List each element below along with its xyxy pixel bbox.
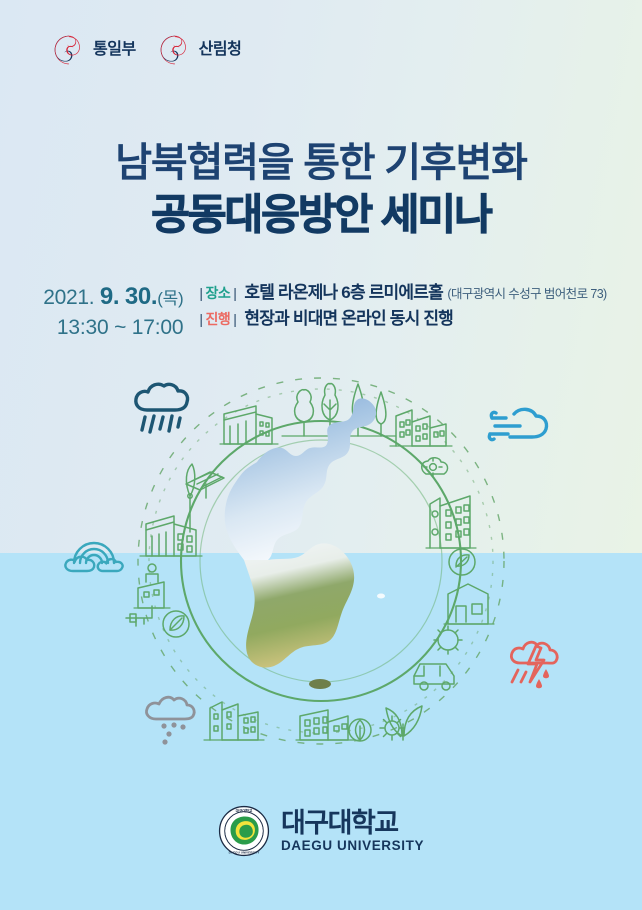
jeju-island-shape [309, 679, 331, 689]
event-datetime: 2021. 9. 30.(목) 13:30 ~ 17:00 [35, 281, 183, 341]
place-address: (대구광역시 수성구 범어천로 73) [447, 287, 606, 301]
tag-bar-right: | [233, 285, 236, 302]
government-logos: 통일부 산림청 [52, 33, 241, 67]
university-name-korean: 대구대학교 [281, 809, 424, 837]
taegeuk-icon [158, 33, 192, 67]
logo-korea-forest-service: 산림청 [158, 33, 242, 67]
event-place-row: | 장소 | 호텔 라온제나 6층 르미에르홀 (대구광역시 수성구 범어천로 … [199, 283, 606, 303]
thunderstorm-icon [506, 638, 562, 692]
university-footer: 대구대학교 DAEGU UNIVERSITY 대구대학교 DAEGU UNIVE… [0, 805, 642, 857]
wind-cloud-icon [486, 405, 550, 445]
event-info: 2021. 9. 30.(목) 13:30 ~ 17:00 | 장소 | 호텔 … [0, 281, 642, 341]
date-day: 30. [125, 283, 157, 310]
university-name: 대구대학교 DAEGU UNIVERSITY [281, 809, 424, 853]
title-line-1: 남북협력을 통한 기후변화 [0, 140, 642, 187]
tag-bar-right: | [233, 311, 236, 328]
logo-label-unification: 통일부 [93, 42, 136, 58]
event-details: | 장소 | 호텔 라온제나 6층 르미에르홀 (대구광역시 수성구 범어천로 … [199, 281, 606, 330]
daegu-university-emblem-icon: 대구대학교 DAEGU UNIVERSITY [218, 805, 270, 857]
event-time: 13:30 ~ 17:00 [35, 314, 183, 341]
date-year: 2021. [43, 286, 94, 309]
title-line-2: 공동대응방안 세미나 [0, 189, 642, 240]
rainbow-cloud-icon [61, 531, 127, 575]
mode-tag-label: 진행 [206, 311, 231, 328]
place-tag-label: 장소 [206, 285, 231, 302]
svg-text:대구대학교: 대구대학교 [236, 808, 253, 813]
rain-cloud-icon [131, 380, 193, 438]
tag-bar-left: | [199, 311, 202, 328]
poster-title: 남북협력을 통한 기후변화 공동대응방안 세미나 [0, 140, 642, 240]
poster-canvas: 통일부 산림청 남북협력을 통한 기후변화 공동대응방안 세미나 2021. 9… [0, 0, 642, 910]
date-weekday: (목) [157, 289, 183, 308]
university-name-english: DAEGU UNIVERSITY [281, 839, 424, 853]
taegeuk-icon [52, 33, 86, 67]
snow-cloud-icon [141, 693, 201, 745]
event-date: 2021. 9. 30.(목) [35, 282, 183, 312]
logo-label-forest-service: 산림청 [199, 42, 242, 58]
south-korea-shape [244, 543, 354, 667]
mode-tag: | 진행 | [199, 309, 236, 328]
place-values: 호텔 라온제나 6층 르미에르홀 (대구광역시 수성구 범어천로 73) [244, 283, 606, 303]
mode-value: 현장과 비대면 온라인 동시 진행 [244, 309, 453, 329]
event-mode-row: | 진행 | 현장과 비대면 온라인 동시 진행 [199, 309, 606, 329]
date-month: 9. [100, 283, 119, 310]
svg-text:DAEGU UNIVERSITY: DAEGU UNIVERSITY [229, 850, 261, 854]
logo-ministry-of-unification: 통일부 [52, 33, 136, 67]
place-name: 호텔 라온제나 6층 르미에르홀 [244, 283, 443, 302]
tag-bar-left: | [199, 285, 202, 302]
place-tag: | 장소 | [199, 283, 236, 302]
